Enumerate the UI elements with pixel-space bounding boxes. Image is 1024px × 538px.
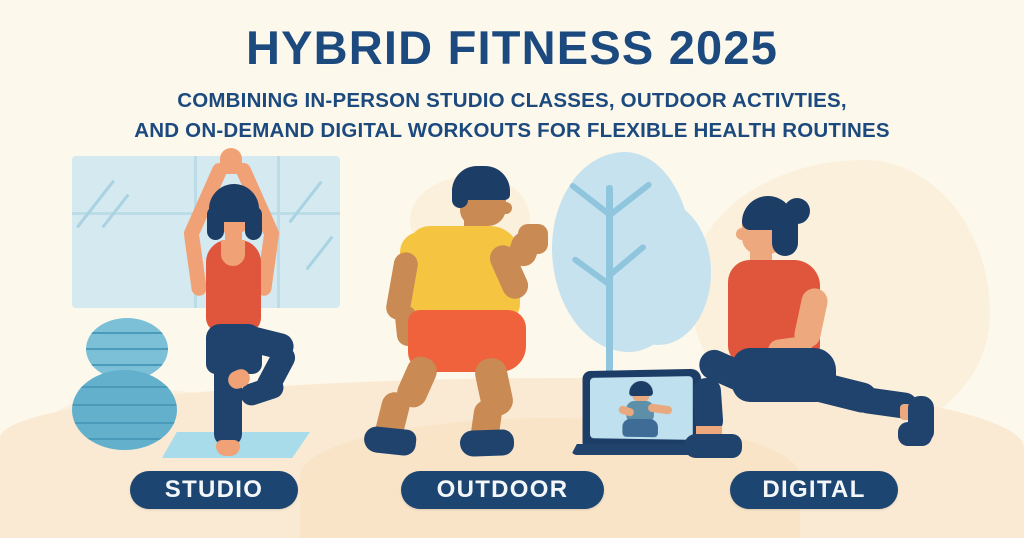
- mirror-glint-4: [305, 236, 333, 271]
- video-instructor-legs: [622, 419, 658, 437]
- mirror-glint-2: [101, 194, 129, 229]
- laptop[interactable]: [583, 369, 702, 450]
- subtitle-line-1: COMBINING IN-PERSON STUDIO CLASSES, OUTD…: [50, 86, 974, 116]
- category-pill-digital[interactable]: DIGITAL: [730, 471, 898, 509]
- poster-canvas: HYBRID FITNESS 2025 COMBINING IN-PERSON …: [0, 0, 1024, 538]
- tree-trunk: [606, 185, 613, 400]
- page-subtitle: COMBINING IN-PERSON STUDIO CLASSES, OUTD…: [50, 86, 974, 145]
- page-title: HYBRID FITNESS 2025: [0, 20, 1024, 75]
- lunge-stretch-figure: [690, 190, 940, 460]
- video-instructor-hair: [629, 381, 653, 396]
- subtitle-line-2: AND ON-DEMAND DIGITAL WORKOUTS FOR FLEXI…: [50, 116, 974, 146]
- yoga-tree-pose-figure: [168, 148, 298, 458]
- category-pill-outdoor[interactable]: OUTDOOR: [401, 471, 604, 509]
- category-pill-studio[interactable]: STUDIO: [130, 471, 298, 509]
- laptop-screen: [590, 376, 693, 440]
- exercise-ball-bottom: [72, 370, 177, 450]
- running-figure: [368, 160, 578, 460]
